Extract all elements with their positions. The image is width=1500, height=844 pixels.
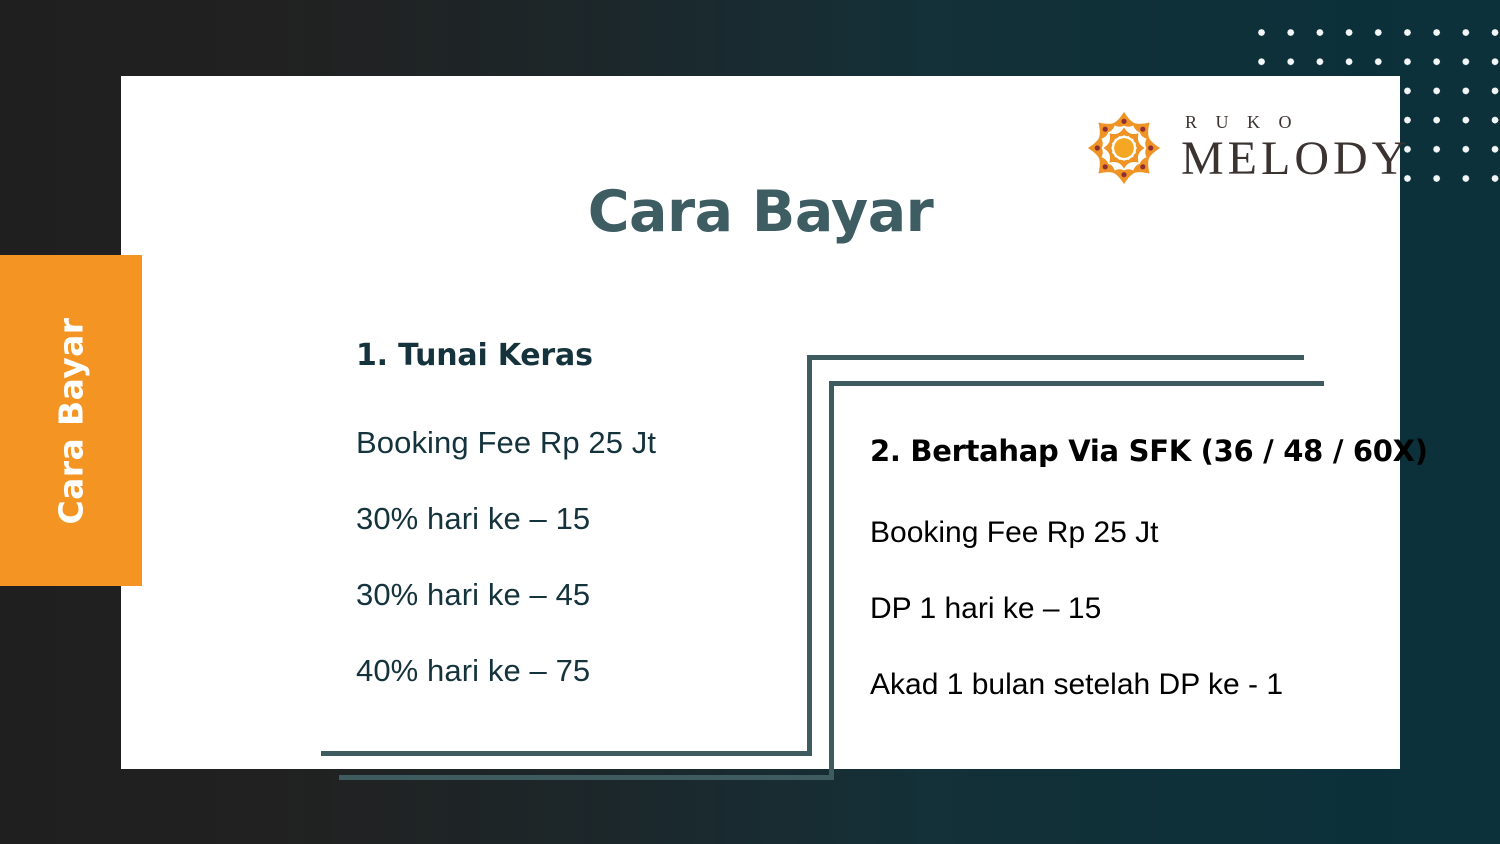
option-2-line: Akad 1 bulan setelah DP ke - 1 bbox=[870, 668, 1490, 702]
option-1-heading: 1. Tunai Keras bbox=[356, 338, 786, 373]
option-2-heading: 2. Bertahap Via SFK (36 / 48 / 60X) bbox=[870, 434, 1490, 468]
option-1-line: 40% hari ke – 75 bbox=[356, 653, 786, 689]
slide-canvas: Cara Bayar bbox=[0, 0, 1500, 844]
bracket-outer-bottom-line bbox=[321, 751, 812, 756]
bracket-outer-top-line bbox=[807, 355, 1304, 360]
section-side-tab: Cara Bayar bbox=[0, 255, 142, 586]
option-1-line: 30% hari ke – 45 bbox=[356, 577, 786, 613]
content-card: Cara Bayar bbox=[121, 76, 1400, 769]
payment-option-2: 2. Bertahap Via SFK (36 / 48 / 60X) Book… bbox=[870, 434, 1490, 702]
payment-option-1: 1. Tunai Keras Booking Fee Rp 25 Jt 30% … bbox=[356, 338, 786, 689]
option-2-line: Booking Fee Rp 25 Jt bbox=[870, 516, 1490, 550]
side-tab-label: Cara Bayar bbox=[52, 317, 91, 524]
mandala-flower-icon bbox=[1081, 105, 1167, 191]
bracket-inner-top-line bbox=[829, 381, 1324, 386]
option-1-line: 30% hari ke – 15 bbox=[356, 501, 786, 537]
logo-wordmark: R U K O MELODY bbox=[1181, 113, 1410, 183]
bracket-outer-left-line bbox=[807, 355, 812, 756]
option-2-line: DP 1 hari ke – 15 bbox=[870, 592, 1490, 626]
logo-ruko-text: R U K O bbox=[1185, 113, 1410, 131]
bracket-inner-bottom-line bbox=[339, 775, 834, 780]
brand-logo: R U K O MELODY bbox=[1081, 100, 1371, 195]
option-1-line: Booking Fee Rp 25 Jt bbox=[356, 425, 786, 461]
bracket-inner-left-line bbox=[829, 381, 834, 780]
logo-melody-text: MELODY bbox=[1181, 135, 1410, 183]
